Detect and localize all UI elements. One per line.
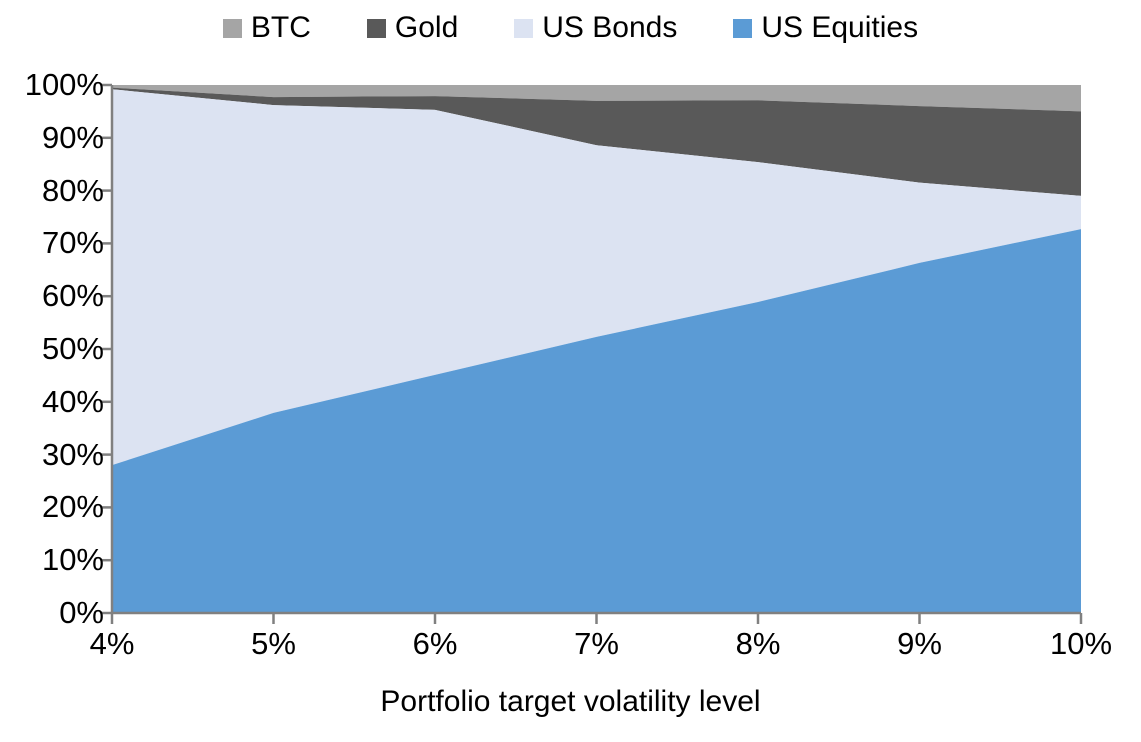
x-tick-label: 8%: [688, 627, 828, 661]
x-tick-label: 7%: [527, 627, 667, 661]
chart-container: BTC Gold US Bonds US Equities 0%10%20%30…: [0, 0, 1141, 742]
x-tick-label: 10%: [1011, 627, 1141, 661]
x-tick-label: 9%: [850, 627, 990, 661]
plot-area: 0%10%20%30%40%50%60%70%80%90%100% 4%5%6%…: [0, 0, 1141, 742]
x-axis-tick-labels: 4%5%6%7%8%9%10%: [0, 0, 1141, 742]
x-tick-label: 5%: [204, 627, 344, 661]
x-axis-title: Portfolio target volatility level: [0, 686, 1141, 718]
x-tick-label: 4%: [42, 627, 182, 661]
x-tick-label: 6%: [365, 627, 505, 661]
